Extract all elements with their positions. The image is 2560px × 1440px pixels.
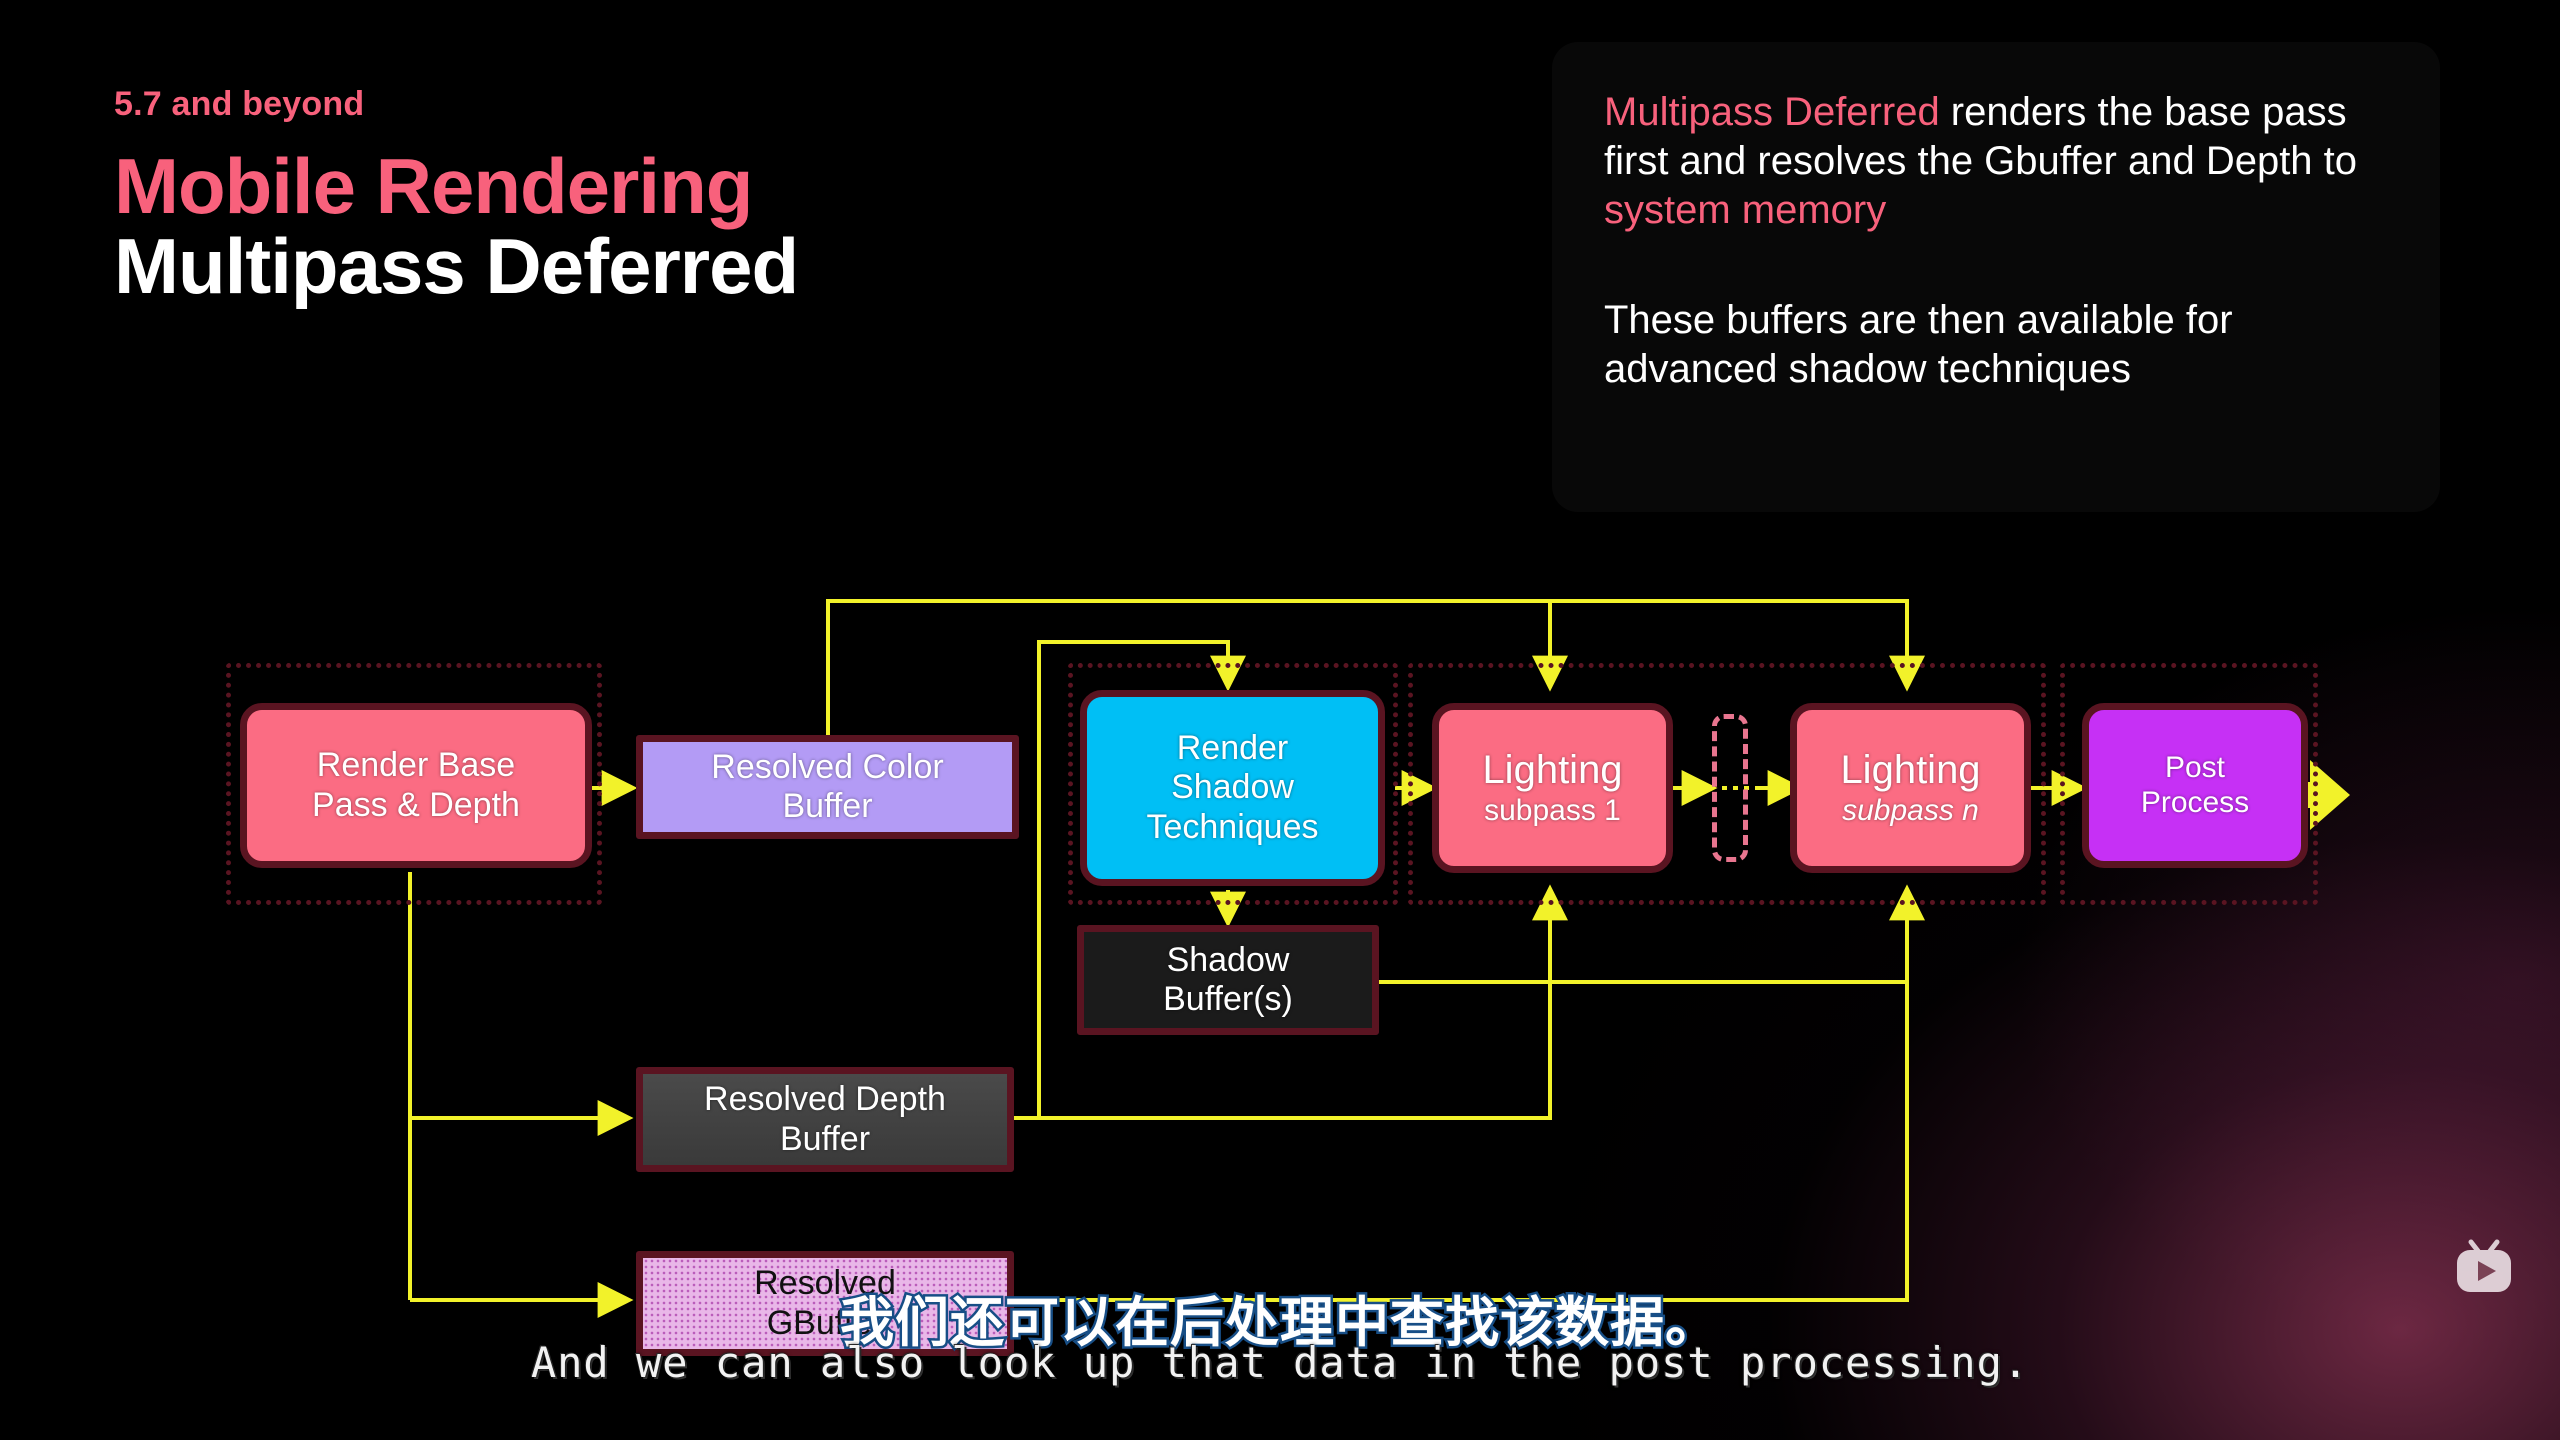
node-label-line: Buffer bbox=[782, 787, 872, 826]
node-resolved-color-buffer[interactable]: Resolved Color Buffer bbox=[636, 735, 1019, 839]
node-label-line: Resolved Depth bbox=[704, 1080, 946, 1119]
node-post-process[interactable]: Post Process bbox=[2082, 703, 2308, 868]
node-label-line: Resolved Color bbox=[711, 748, 943, 787]
node-label-line: Render bbox=[1177, 729, 1289, 768]
node-render-shadow-techniques[interactable]: Render Shadow Techniques bbox=[1080, 690, 1385, 886]
node-label-line: subpass n bbox=[1842, 794, 1979, 829]
pipeline-diagram: Render Base Pass & Depth Resolved Color … bbox=[0, 0, 2560, 1440]
node-label-line: Shadow bbox=[1167, 941, 1290, 980]
node-shadow-buffers[interactable]: Shadow Buffer(s) bbox=[1077, 925, 1379, 1035]
node-label-line: Pass & Depth bbox=[312, 786, 520, 825]
node-label-line: Process bbox=[2141, 786, 2249, 821]
node-lighting-subpass-ellipsis bbox=[1712, 714, 1748, 862]
node-label-line: subpass 1 bbox=[1484, 794, 1621, 829]
node-lighting-subpass-1[interactable]: Lighting subpass 1 bbox=[1432, 703, 1673, 873]
node-label-line: Shadow bbox=[1171, 768, 1294, 807]
node-render-base-pass[interactable]: Render Base Pass & Depth bbox=[240, 703, 592, 868]
node-label-line: Buffer bbox=[780, 1120, 870, 1159]
node-label-line: Buffer(s) bbox=[1163, 980, 1293, 1019]
node-resolved-depth-buffer[interactable]: Resolved Depth Buffer bbox=[636, 1067, 1014, 1172]
subtitle-english: And we can also look up that data in the… bbox=[0, 1338, 2560, 1387]
node-lighting-subpass-n[interactable]: Lighting subpass n bbox=[1790, 703, 2031, 873]
node-label-line: Post bbox=[2165, 751, 2225, 786]
tv-play-icon bbox=[2452, 1239, 2516, 1295]
slide-canvas: 5.7 and beyond Mobile Rendering Multipas… bbox=[0, 0, 2560, 1440]
node-label-line: Techniques bbox=[1146, 808, 1318, 847]
node-label-line: Lighting bbox=[1840, 747, 1980, 793]
node-label-line: Render Base bbox=[317, 746, 515, 785]
node-label-line: Lighting bbox=[1482, 747, 1622, 793]
